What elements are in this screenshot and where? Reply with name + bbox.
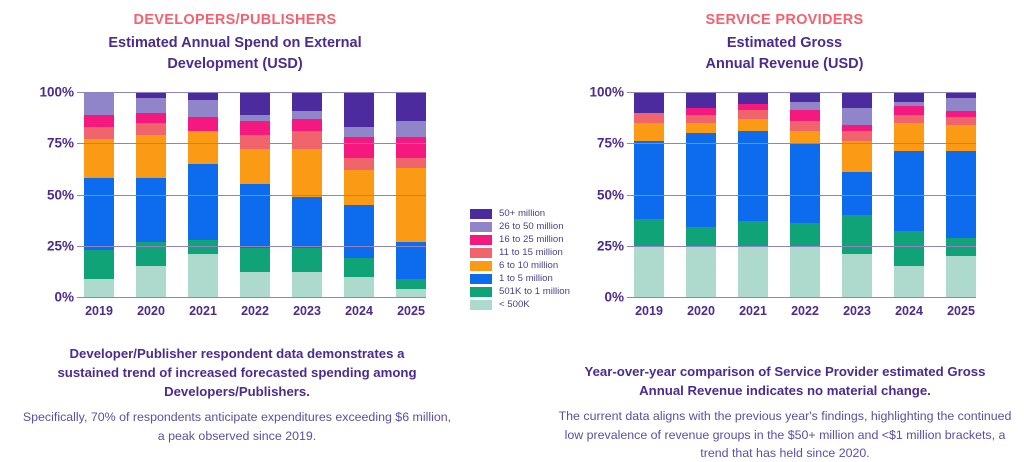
right-axis-tick — [627, 297, 634, 298]
right-eyebrow: SERVICE PROVIDERS — [545, 12, 1024, 28]
left-eyebrow: DEVELOPERS/PUBLISHERS — [0, 12, 470, 28]
right-axis-tick — [627, 92, 634, 93]
left-subtitle-line2: Development (USD) — [0, 54, 470, 75]
bar-segment[interactable] — [292, 111, 322, 119]
left-axis-tick — [77, 195, 84, 196]
right-chart: 100%75%50%25%0% 201920202021202220232024… — [586, 92, 976, 302]
bar-segment[interactable] — [136, 98, 166, 112]
legend-swatch-icon — [470, 222, 492, 233]
bar-segment[interactable] — [842, 254, 872, 297]
bar-segment[interactable] — [84, 115, 114, 127]
bar-segment[interactable] — [240, 92, 270, 115]
bar-segment[interactable] — [136, 123, 166, 135]
bar-segment[interactable] — [790, 102, 820, 110]
bar-segment[interactable] — [344, 277, 374, 298]
bar-segment[interactable] — [842, 108, 872, 124]
bar-segment[interactable] — [136, 178, 166, 242]
left-y-tick-label: 25% — [47, 238, 74, 253]
bar-segment[interactable] — [842, 131, 872, 141]
right-subtitle-line1: Estimated Gross — [545, 33, 1024, 54]
right-chart-titles: SERVICE PROVIDERS Estimated Gross Annual… — [545, 0, 1024, 74]
left-axis-tick — [77, 297, 84, 298]
left-y-tick-label: 75% — [47, 136, 74, 151]
bar-segment[interactable] — [842, 172, 872, 215]
left-gridline — [84, 246, 426, 247]
right-y-axis: 100%75%50%25%0% — [586, 92, 630, 297]
bar-segment[interactable] — [634, 246, 664, 297]
left-y-tick-label: 0% — [54, 290, 74, 305]
bar-segment[interactable] — [240, 135, 270, 149]
x-tick-label-2020: 2020 — [686, 304, 716, 318]
bar-segment[interactable] — [396, 121, 426, 137]
bar-segment[interactable] — [842, 92, 872, 108]
right-caption-body: The current data aligns with the previou… — [555, 407, 1015, 462]
left-subtitle-line1: Estimated Annual Spend on External — [0, 33, 470, 54]
bar-segment[interactable] — [686, 227, 716, 245]
bar-segment[interactable] — [188, 117, 218, 131]
right-subtitle-line2: Annual Revenue (USD) — [545, 54, 1024, 75]
bar-segment[interactable] — [790, 110, 820, 120]
bar-segment[interactable] — [84, 127, 114, 139]
bar-segment[interactable] — [396, 92, 426, 121]
legend-swatch-icon — [470, 287, 492, 298]
left-chart-titles: DEVELOPERS/PUBLISHERS Estimated Annual S… — [0, 0, 470, 74]
bar-segment[interactable] — [790, 131, 820, 143]
bar-segment[interactable] — [686, 133, 716, 227]
bar-segment[interactable] — [894, 106, 924, 114]
bar-segment[interactable] — [240, 121, 270, 135]
x-tick-label-2020: 2020 — [136, 304, 166, 318]
bar-segment[interactable] — [84, 139, 114, 178]
bar-segment[interactable] — [738, 119, 768, 131]
x-tick-label-2022: 2022 — [240, 304, 270, 318]
x-tick-label-2023: 2023 — [292, 304, 322, 318]
bar-segment[interactable] — [344, 170, 374, 205]
left-gridline — [84, 92, 426, 93]
left-y-axis: 100%75%50%25%0% — [36, 92, 80, 297]
bar-segment[interactable] — [634, 141, 664, 219]
right-y-tick-label: 100% — [589, 85, 624, 100]
right-caption-head-line1: Year-over-year comparison of Service Pro… — [555, 362, 1015, 381]
legend-swatch-icon — [470, 235, 492, 246]
x-tick-label-2021: 2021 — [188, 304, 218, 318]
bar-segment[interactable] — [240, 248, 270, 273]
bar-segment[interactable] — [894, 92, 924, 102]
left-y-tick-label: 100% — [39, 85, 74, 100]
bar-segment[interactable] — [240, 149, 270, 184]
bar-segment[interactable] — [738, 110, 768, 118]
bar-segment[interactable] — [894, 123, 924, 152]
bar-segment[interactable] — [686, 115, 716, 123]
x-tick-label-2022: 2022 — [790, 304, 820, 318]
left-caption-head-line3: Developers/Publishers. — [22, 382, 452, 401]
bar-segment[interactable] — [396, 279, 426, 289]
right-y-tick-label: 75% — [597, 136, 624, 151]
right-axis-tick — [627, 246, 634, 247]
bar-segment[interactable] — [790, 121, 820, 131]
bar-segment[interactable] — [894, 115, 924, 123]
x-tick-label-2019: 2019 — [634, 304, 664, 318]
bar-segment[interactable] — [84, 279, 114, 297]
left-caption-head-line1: Developer/Publisher respondent data demo… — [22, 344, 452, 363]
bar-segment[interactable] — [842, 215, 872, 254]
x-tick-label-2024: 2024 — [894, 304, 924, 318]
left-plot-area — [84, 92, 426, 297]
left-gridline — [84, 195, 426, 196]
bar-segment[interactable] — [188, 100, 218, 116]
legend-item-label: 50+ million — [499, 209, 545, 219]
bar-segment[interactable] — [84, 92, 114, 115]
left-gridline — [84, 297, 426, 298]
bar-segment[interactable] — [790, 246, 820, 297]
bar-segment[interactable] — [344, 137, 374, 158]
bar-segment[interactable] — [292, 248, 322, 273]
x-tick-label-2025: 2025 — [396, 304, 426, 318]
bar-segment[interactable] — [136, 135, 166, 178]
bar-segment[interactable] — [396, 168, 426, 242]
panel-developers-publishers: DEVELOPERS/PUBLISHERS Estimated Annual S… — [0, 0, 470, 458]
left-x-axis: 2019202020212022202320242025 — [84, 304, 426, 318]
right-caption-head-line2: Annual Revenue indicates no material cha… — [555, 381, 1015, 400]
bar-segment[interactable] — [84, 250, 114, 279]
bar-segment[interactable] — [292, 92, 322, 110]
bar-segment[interactable] — [790, 143, 820, 223]
left-caption: Developer/Publisher respondent data demo… — [22, 344, 452, 445]
bar-segment[interactable] — [188, 254, 218, 297]
left-y-tick-label: 50% — [47, 187, 74, 202]
bar-segment[interactable] — [292, 149, 322, 196]
legend-swatch-icon — [470, 274, 492, 285]
bar-segment[interactable] — [292, 119, 322, 131]
x-tick-label-2024: 2024 — [344, 304, 374, 318]
right-gridline — [634, 143, 976, 144]
left-axis-tick — [77, 246, 84, 247]
bar-segment[interactable] — [396, 289, 426, 297]
bar-segment[interactable] — [188, 131, 218, 164]
bar-segment[interactable] — [946, 125, 976, 152]
bar-segment[interactable] — [396, 158, 426, 168]
right-y-tick-label: 0% — [604, 290, 624, 305]
right-caption: Year-over-year comparison of Service Pro… — [555, 362, 1015, 462]
left-caption-head-line2: sustained trend of increased forecasted … — [22, 363, 452, 382]
bar-segment[interactable] — [188, 240, 218, 254]
bar-segment[interactable] — [946, 238, 976, 256]
bar-segment[interactable] — [738, 221, 768, 246]
bar-segment[interactable] — [894, 151, 924, 231]
x-tick-label-2019: 2019 — [84, 304, 114, 318]
bar-segment[interactable] — [292, 197, 322, 248]
bar-segment[interactable] — [188, 164, 218, 240]
bar-segment[interactable] — [84, 178, 114, 250]
left-chart: 100%75%50%25%0% 201920202021202220232024… — [36, 92, 426, 302]
bar-segment[interactable] — [344, 205, 374, 258]
right-axis-tick — [627, 143, 634, 144]
bar-segment[interactable] — [738, 246, 768, 297]
bar-segment[interactable] — [240, 272, 270, 297]
bar-segment[interactable] — [344, 92, 374, 127]
right-gridline — [634, 297, 976, 298]
x-tick-label-2023: 2023 — [842, 304, 872, 318]
x-tick-label-2021: 2021 — [738, 304, 768, 318]
right-y-tick-label: 25% — [597, 238, 624, 253]
bar-segment[interactable] — [686, 246, 716, 297]
bar-segment[interactable] — [738, 131, 768, 221]
bar-segment[interactable] — [292, 131, 322, 149]
bar-segment[interactable] — [946, 256, 976, 297]
legend-swatch-icon — [470, 209, 492, 220]
right-plot-area — [634, 92, 976, 297]
left-axis-tick — [77, 143, 84, 144]
right-gridline — [634, 195, 976, 196]
bar-segment[interactable] — [686, 92, 716, 108]
bar-segment[interactable] — [894, 231, 924, 266]
bar-segment[interactable] — [790, 92, 820, 102]
left-gridline — [84, 143, 426, 144]
bar-segment[interactable] — [344, 258, 374, 276]
bar-segment[interactable] — [292, 272, 322, 297]
right-gridline — [634, 92, 976, 93]
infographic-page: DEVELOPERS/PUBLISHERS Estimated Annual S… — [0, 0, 1024, 458]
bar-segment[interactable] — [946, 117, 976, 125]
bar-segment[interactable] — [686, 123, 716, 133]
bar-segment[interactable] — [634, 123, 664, 141]
bar-segment[interactable] — [790, 223, 820, 246]
bar-segment[interactable] — [634, 113, 664, 123]
right-y-tick-label: 50% — [597, 187, 624, 202]
bar-segment[interactable] — [946, 98, 976, 110]
bar-segment[interactable] — [634, 219, 664, 246]
bar-segment[interactable] — [188, 92, 218, 100]
x-tick-label-2025: 2025 — [946, 304, 976, 318]
bar-segment[interactable] — [344, 127, 374, 137]
right-gridline — [634, 246, 976, 247]
legend-item-label: < 500K — [499, 300, 530, 310]
legend-swatch-icon — [470, 261, 492, 272]
legend-swatch-icon — [470, 248, 492, 259]
bar-segment[interactable] — [136, 113, 166, 123]
bar-segment[interactable] — [894, 266, 924, 297]
right-axis-tick — [627, 195, 634, 196]
bar-segment[interactable] — [344, 158, 374, 170]
right-x-axis: 2019202020212022202320242025 — [634, 304, 976, 318]
bar-segment[interactable] — [396, 137, 426, 158]
left-caption-body: Specifically, 70% of respondents anticip… — [22, 408, 452, 445]
left-axis-tick — [77, 92, 84, 93]
bar-segment[interactable] — [738, 92, 768, 104]
bar-segment[interactable] — [396, 242, 426, 279]
legend-swatch-icon — [470, 300, 492, 311]
bar-segment[interactable] — [634, 92, 664, 113]
bar-segment[interactable] — [136, 266, 166, 297]
bar-segment[interactable] — [842, 141, 872, 172]
